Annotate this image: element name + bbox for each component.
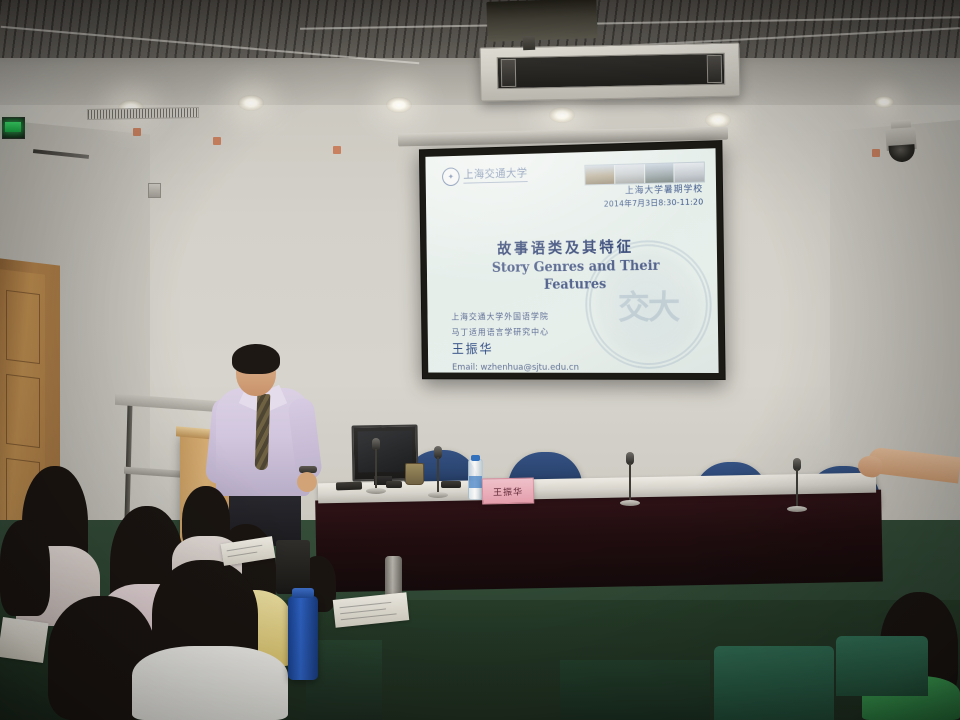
speaker-hair xyxy=(232,344,280,374)
campus-photo xyxy=(615,164,644,184)
ac-vent-grille xyxy=(87,107,199,120)
floor-speaker xyxy=(276,540,310,594)
projection-screen: 交大 ✦ 上海交通大学 上海大学暑期学校 2014年7月3日8:30-11:20… xyxy=(419,140,726,380)
ac-inner-panel xyxy=(497,53,726,89)
paper-cup xyxy=(405,463,424,485)
desk-item xyxy=(386,481,402,488)
lecture-hall-photo: 交大 ✦ 上海交通大学 上海大学暑期学校 2014年7月3日8:30-11:20… xyxy=(0,0,960,720)
auditorium-seat[interactable] xyxy=(714,646,834,720)
ac-side-slot xyxy=(707,55,723,83)
plastic-water-bottle xyxy=(468,459,483,500)
campus-photo-strip xyxy=(584,162,705,186)
session-datetime: 2014年7月3日8:30-11:20 xyxy=(604,197,704,211)
sjtu-logo: ✦ 上海交通大学 xyxy=(442,165,528,186)
sjtu-wordmark: 上海交通大学 xyxy=(463,168,527,183)
presentation-slide: 交大 ✦ 上海交通大学 上海大学暑期学校 2014年7月3日8:30-11:20… xyxy=(425,148,718,373)
presenter-email: Email: wzhenhua@sjtu.edu.cn xyxy=(452,360,579,373)
campus-photo xyxy=(675,163,705,183)
ac-side-slot xyxy=(501,59,517,87)
wall-outlet xyxy=(148,183,161,198)
campus-photo xyxy=(645,163,674,183)
campus-photo xyxy=(585,165,614,184)
slide-title-english-line2: Features xyxy=(451,274,704,295)
exit-sign xyxy=(2,117,25,139)
ceiling-downlight xyxy=(549,107,575,123)
wall-hook xyxy=(213,137,221,145)
wall-hook xyxy=(333,146,341,154)
placard-name: 王振华 xyxy=(493,484,523,498)
ceiling-ac-cassette xyxy=(480,43,741,102)
name-placard: 王振华 xyxy=(482,477,535,504)
ceiling-downlight xyxy=(238,95,264,111)
slide-affiliation-block: 上海交通大学外国语学院 马丁适用语言学研究中心 王振华 Email: wzhen… xyxy=(451,309,579,373)
wall-hook xyxy=(133,128,141,136)
sjtu-seal-icon: ✦ xyxy=(442,167,460,186)
slide-title-chinese: 故事语类及其特征 xyxy=(427,234,710,259)
speaker-necktie xyxy=(255,394,271,470)
session-header: 上海大学暑期学校 2014年7月3日8:30-11:20 xyxy=(604,184,704,211)
desk-remote xyxy=(336,482,362,491)
auditorium-seat[interactable] xyxy=(836,636,928,696)
presenter-name: 王振华 xyxy=(452,341,579,360)
door-panel xyxy=(6,374,40,448)
ceiling-downlight xyxy=(386,97,412,113)
speaker-hand xyxy=(297,472,317,492)
blue-sports-bottle xyxy=(288,596,318,680)
dome-security-camera xyxy=(885,127,916,151)
wall-hook xyxy=(872,149,880,157)
desk-item xyxy=(441,481,461,488)
ceiling-downlight xyxy=(874,96,894,108)
door-panel xyxy=(6,290,40,364)
affiliation-line-2: 马丁适用语言学研究中心 xyxy=(451,325,578,341)
auditorium-seat[interactable] xyxy=(560,660,710,720)
projector-mount xyxy=(523,36,535,50)
open-notebook xyxy=(0,617,49,663)
ceiling-downlight xyxy=(705,112,731,128)
ceiling-projector xyxy=(486,0,597,42)
slide-title-english: Story Genres and Their Features xyxy=(451,256,704,295)
affiliation-line-1: 上海交通大学外国语学院 xyxy=(451,309,578,325)
